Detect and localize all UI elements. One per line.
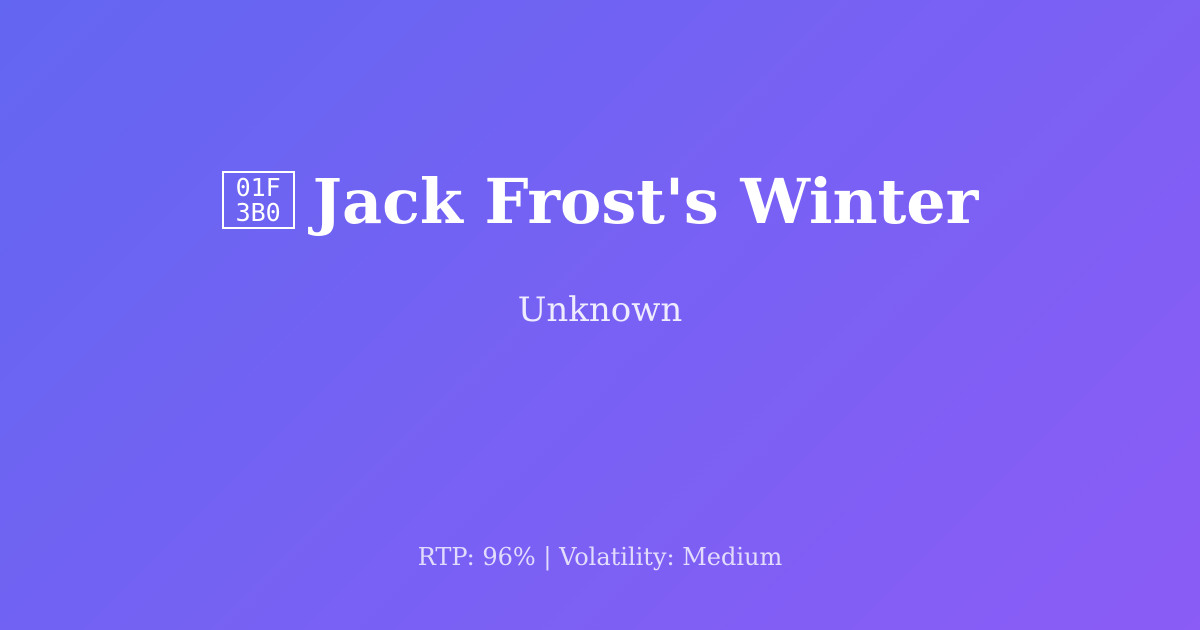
hex-box-rows: 01F 3B0 [226, 176, 291, 224]
slot-machine-icon: 01F 3B0 [222, 171, 295, 229]
hex-row-top: 01F [236, 175, 281, 200]
game-stats-line: RTP: 96% | Volatility: Medium [418, 543, 783, 572]
provider-subtitle: Unknown [518, 290, 683, 331]
hero-section: 01F 3B0 Jack Frost's Winter Unknown [0, 0, 1200, 500]
og-share-card: 01F 3B0 Jack Frost's Winter Unknown RTP:… [0, 0, 1200, 630]
page-title: Jack Frost's Winter [313, 169, 979, 234]
footer-section: RTP: 96% | Volatility: Medium [0, 543, 1200, 572]
hex-row-bottom: 3B0 [236, 200, 281, 225]
title-row: 01F 3B0 Jack Frost's Winter [222, 169, 979, 234]
